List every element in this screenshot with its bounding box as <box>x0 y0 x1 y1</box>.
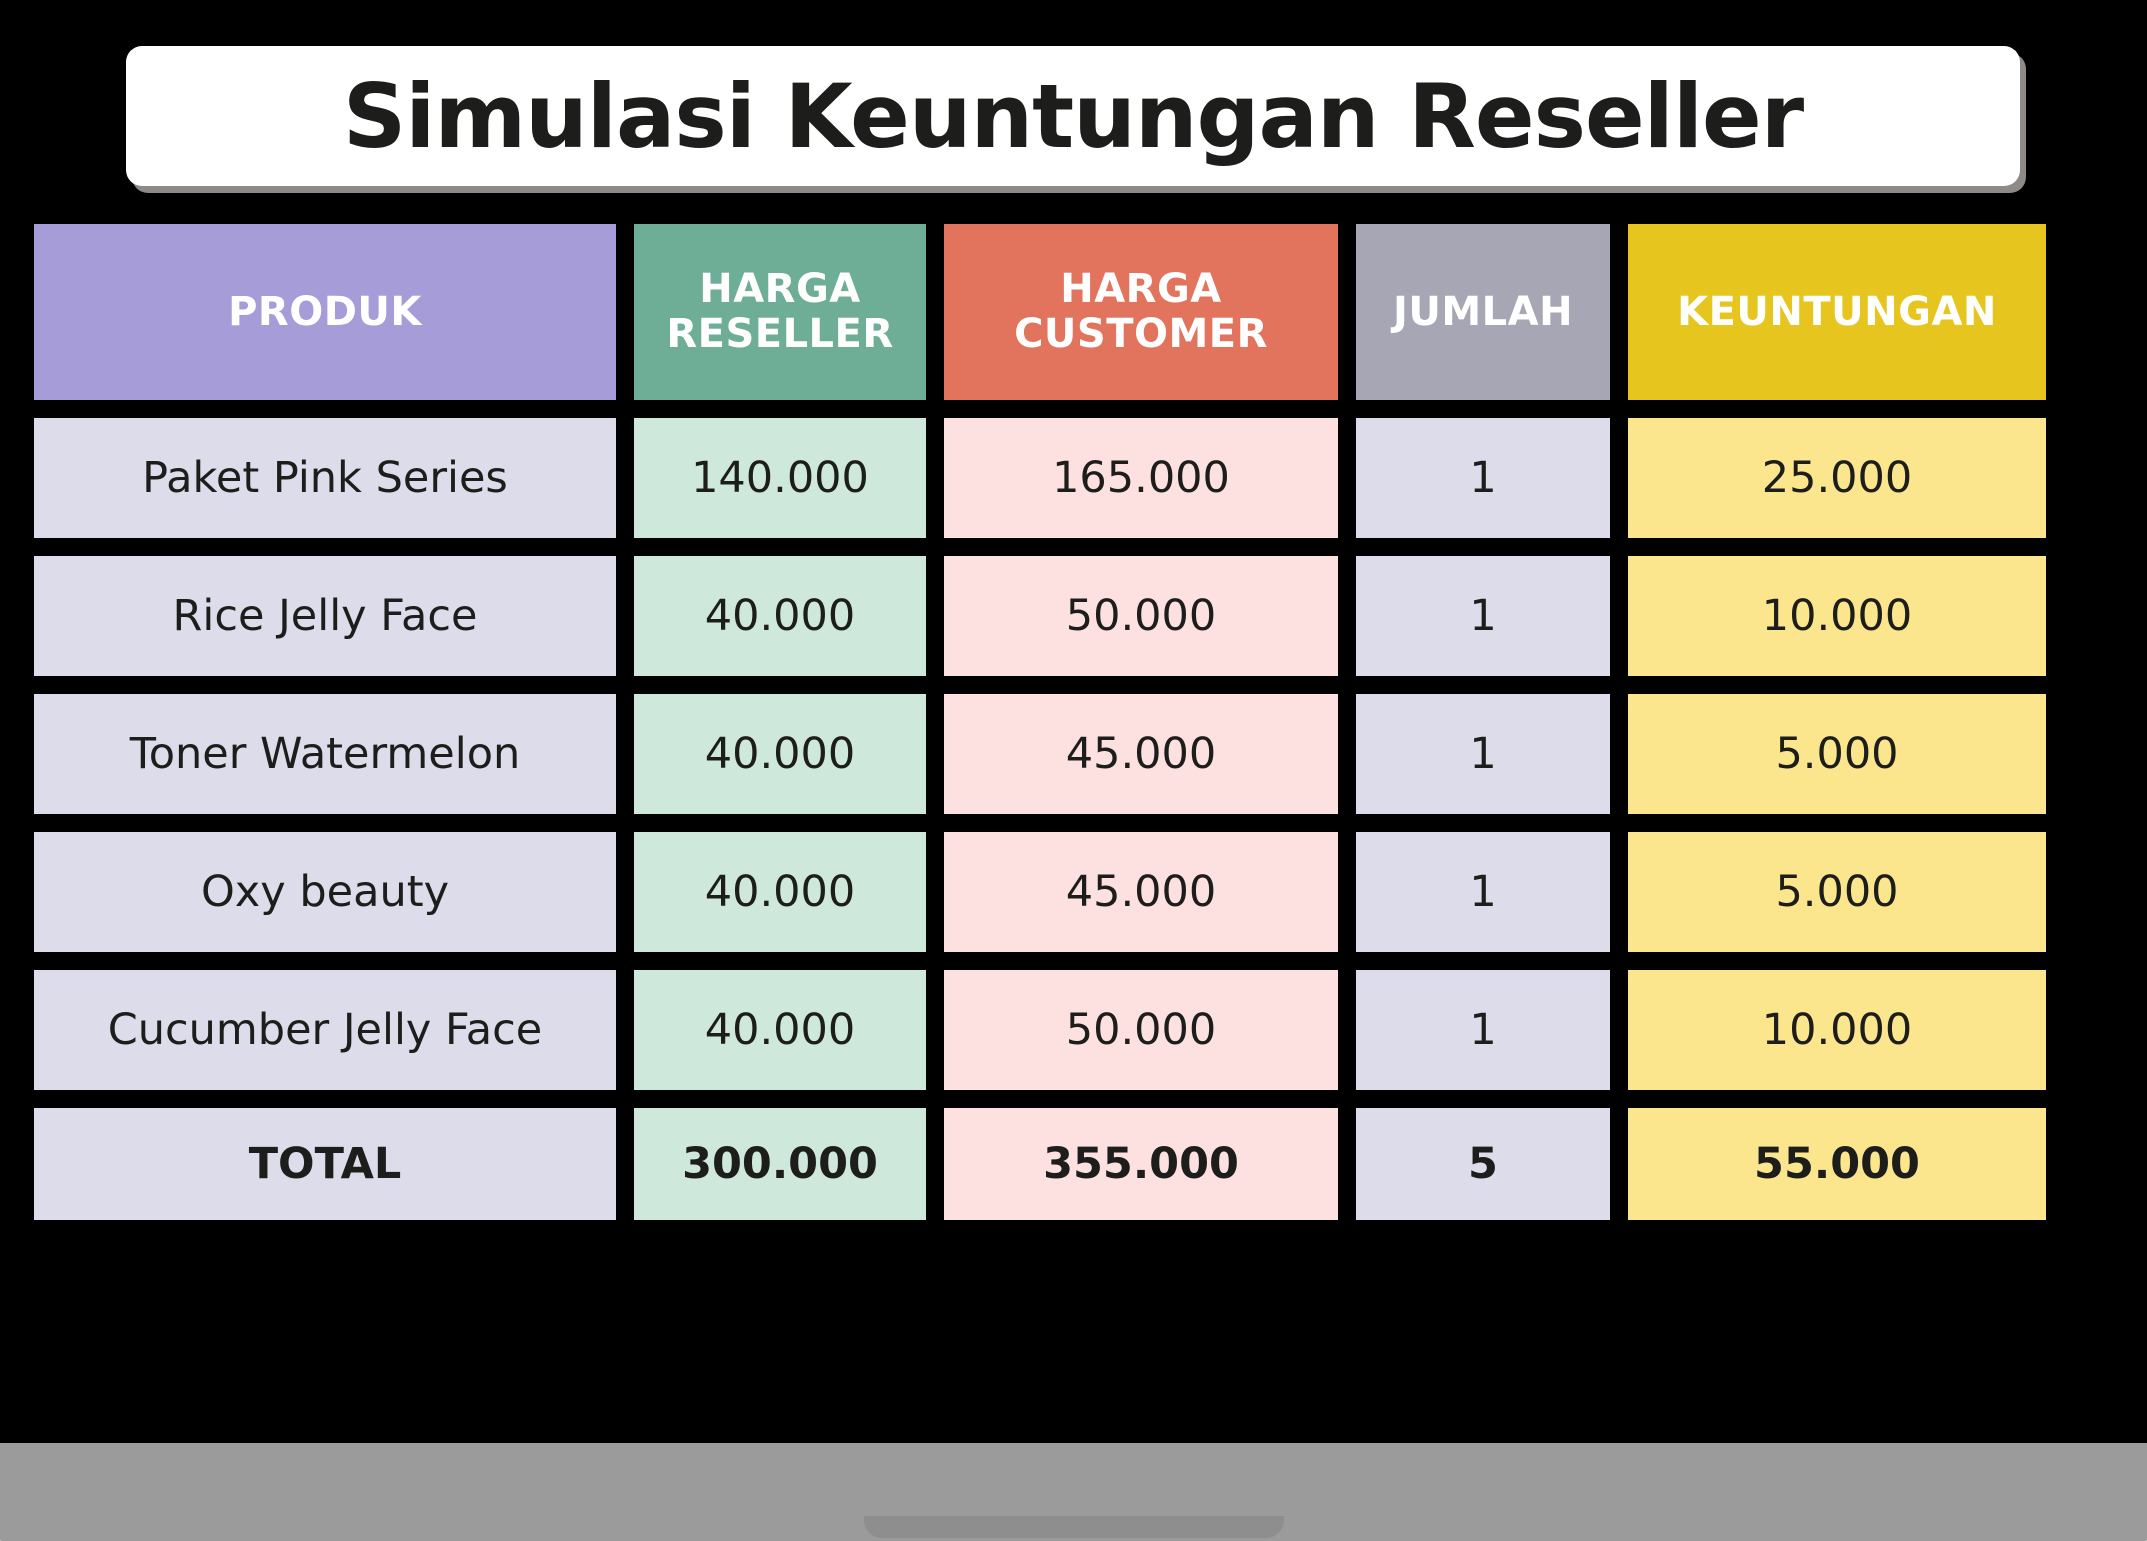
cell-reseller: 40.000 <box>705 1006 855 1054</box>
column-header-harga-reseller-label: HARGA RESELLER <box>666 267 893 357</box>
table-row: 40.000 <box>625 685 935 823</box>
total-untung: 55.000 <box>1754 1140 1920 1188</box>
cell-customer: 165.000 <box>1052 454 1230 502</box>
cell-jumlah: 1 <box>1469 730 1496 778</box>
cell-untung: 10.000 <box>1762 1006 1912 1054</box>
table-row: 10.000 <box>1619 961 2055 1099</box>
table-row: 1 <box>1347 409 1619 547</box>
cell-customer: 45.000 <box>1066 730 1216 778</box>
harga-reseller-line1: HARGA <box>699 266 861 312</box>
table-row: 50.000 <box>935 547 1347 685</box>
cell-produk: Cucumber Jelly Face <box>108 1006 543 1054</box>
table-row: Rice Jelly Face <box>25 547 625 685</box>
harga-reseller-line2: RESELLER <box>666 311 893 357</box>
cell-untung: 5.000 <box>1775 730 1898 778</box>
column-header-produk: PRODUK <box>25 215 625 409</box>
table-row: 50.000 <box>935 961 1347 1099</box>
table-row: 45.000 <box>935 685 1347 823</box>
cell-jumlah: 1 <box>1469 1006 1496 1054</box>
total-customer: 355.000 <box>1043 1140 1239 1188</box>
column-header-harga-customer-label: HARGA CUSTOMER <box>1014 267 1268 357</box>
total-jumlah: 5 <box>1468 1140 1498 1188</box>
cell-customer: 50.000 <box>1066 592 1216 640</box>
cell-produk: Toner Watermelon <box>130 730 521 778</box>
harga-customer-line2: CUSTOMER <box>1014 311 1268 357</box>
table-row: 40.000 <box>625 547 935 685</box>
table-row: 1 <box>1347 547 1619 685</box>
table-row: 1 <box>1347 685 1619 823</box>
cell-jumlah: 1 <box>1469 454 1496 502</box>
cell-untung: 10.000 <box>1762 592 1912 640</box>
cell-reseller: 140.000 <box>691 454 869 502</box>
table-row: Paket Pink Series <box>25 409 625 547</box>
cell-produk: Rice Jelly Face <box>173 592 478 640</box>
harga-customer-line1: HARGA <box>1060 266 1222 312</box>
cell-produk: Oxy beauty <box>201 868 449 916</box>
table-row: 25.000 <box>1619 409 2055 547</box>
column-header-produk-label: PRODUK <box>228 290 422 335</box>
cell-reseller: 40.000 <box>705 868 855 916</box>
total-row: 55.000 <box>1619 1099 2055 1229</box>
table-row: Cucumber Jelly Face <box>25 961 625 1099</box>
total-row: 5 <box>1347 1099 1619 1229</box>
column-header-keuntungan-label: KEUNTUNGAN <box>1677 290 1997 335</box>
table-row: Toner Watermelon <box>25 685 625 823</box>
table-row: 40.000 <box>625 823 935 961</box>
table-row: 40.000 <box>625 961 935 1099</box>
column-header-jumlah-label: JUMLAH <box>1393 290 1573 335</box>
table-row: 5.000 <box>1619 823 2055 961</box>
cell-reseller: 40.000 <box>705 592 855 640</box>
table-row: Oxy beauty <box>25 823 625 961</box>
column-header-jumlah: JUMLAH <box>1347 215 1619 409</box>
cell-customer: 50.000 <box>1066 1006 1216 1054</box>
table-row: 45.000 <box>935 823 1347 961</box>
column-header-harga-customer: HARGA CUSTOMER <box>935 215 1347 409</box>
table-row: 1 <box>1347 961 1619 1099</box>
table-row: 140.000 <box>625 409 935 547</box>
cell-untung: 5.000 <box>1775 868 1898 916</box>
cell-produk: Paket Pink Series <box>142 454 508 502</box>
cell-reseller: 40.000 <box>705 730 855 778</box>
total-row: 355.000 <box>935 1099 1347 1229</box>
title-card: Simulasi Keuntungan Reseller <box>126 46 2020 186</box>
table-row: 165.000 <box>935 409 1347 547</box>
table-row: 5.000 <box>1619 685 2055 823</box>
total-row: TOTAL <box>25 1099 625 1229</box>
column-header-harga-reseller: HARGA RESELLER <box>625 215 935 409</box>
column-header-keuntungan: KEUNTUNGAN <box>1619 215 2055 409</box>
cell-customer: 45.000 <box>1066 868 1216 916</box>
profit-simulation-table: PRODUK HARGA RESELLER HARGA CUSTOMER JUM… <box>25 215 2125 1229</box>
laptop-notch-decoration <box>864 1516 1284 1538</box>
cell-jumlah: 1 <box>1469 592 1496 640</box>
cell-jumlah: 1 <box>1469 868 1496 916</box>
total-label: TOTAL <box>249 1140 402 1188</box>
total-row: 300.000 <box>625 1099 935 1229</box>
cell-untung: 25.000 <box>1762 454 1912 502</box>
slide-canvas: Simulasi Keuntungan Reseller PRODUK HARG… <box>0 0 2147 1541</box>
page-title: Simulasi Keuntungan Reseller <box>343 65 1803 168</box>
table-row: 10.000 <box>1619 547 2055 685</box>
total-reseller: 300.000 <box>682 1140 878 1188</box>
table-row: 1 <box>1347 823 1619 961</box>
